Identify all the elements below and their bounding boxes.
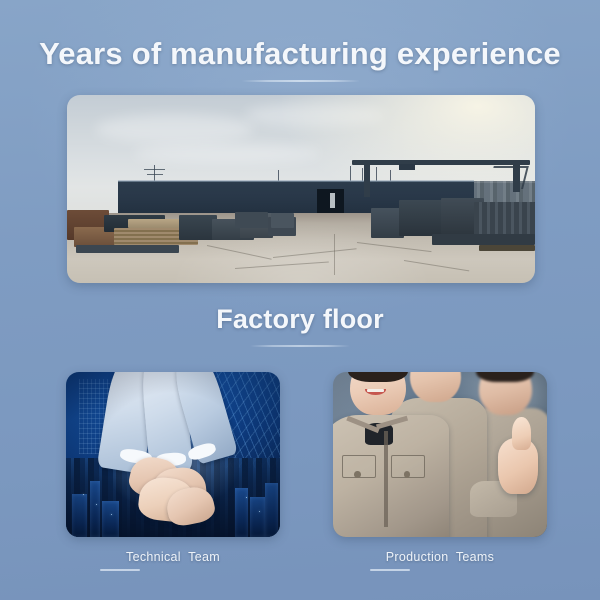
cloud [95,114,254,144]
material-stack [432,234,535,245]
gantry-crane-beam [352,160,530,165]
doorway-light [330,193,335,208]
uniform-placket [384,431,387,527]
technical-team-caption: Technical Team [66,548,280,566]
warehouse-roofline [118,180,474,182]
gantry-crane-leg [364,164,370,198]
pocket-button [404,471,410,478]
promo-banner: Years of manufacturing experience [0,0,600,600]
caption-underline [100,569,140,571]
title-divider [242,80,360,82]
pole-crossarm [147,174,163,175]
parked-vehicle [271,213,294,228]
material-stack [76,245,179,253]
pole-crossarm [144,169,165,170]
caption-underline [370,569,410,571]
production-teams-caption: Production Teams [333,548,547,566]
production-teams-photo [333,372,547,537]
gantry-crane-brace [488,166,528,189]
technical-team-photo [66,372,280,537]
prod-photo-canvas [333,372,547,537]
parked-vehicle [235,212,268,229]
hero-photo-canvas [67,95,535,283]
pocket-button [354,471,360,478]
factory-yard-photo [67,95,535,283]
page-title: Years of manufacturing experience [0,33,600,75]
subtitle-divider [250,345,350,347]
section-subtitle: Factory floor [0,300,600,338]
tech-photo-canvas [66,372,280,537]
thumbs-up-thumb [512,417,531,450]
material-stack [399,200,446,236]
pavement-crack [334,234,335,275]
worker-teeth [367,389,384,392]
material-stack [479,245,535,251]
gantry-crane-trolley [399,164,415,171]
